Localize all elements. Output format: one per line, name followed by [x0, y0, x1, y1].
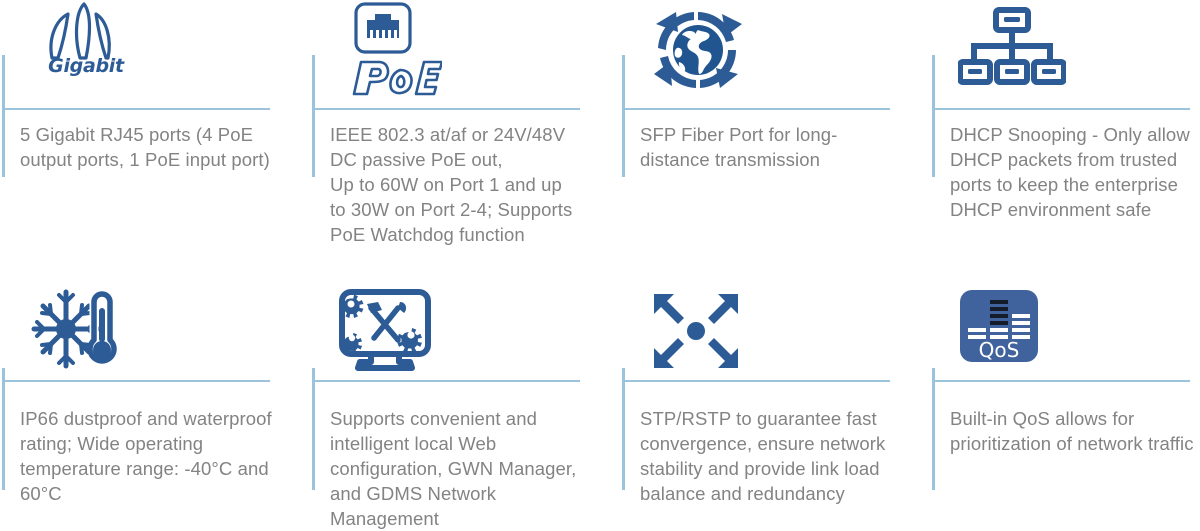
feature-card-poe: IEEE 802.3 at/af or 24V/48V DC passive P…: [310, 0, 620, 260]
feature-card-stp-rstp: STP/RSTP to guarantee fast convergence, …: [620, 260, 930, 520]
snowflake-thermometer-icon: [28, 288, 138, 388]
card-horizontal-rule: [932, 108, 1190, 110]
card-vertical-rule: [622, 368, 625, 490]
card-vertical-rule: [312, 368, 315, 490]
feature-grid: Gigabit 5 Gigabit RJ45 ports (4 PoE outp…: [0, 0, 1200, 520]
card-vertical-rule: [932, 368, 935, 490]
gigabit-logo-label: Gigabit: [36, 55, 136, 77]
feature-card-gigabit: Gigabit 5 Gigabit RJ45 ports (4 PoE outp…: [0, 0, 310, 260]
feature-card-ip66: IP66 dustproof and waterproof rating; Wi…: [0, 260, 310, 520]
card-vertical-rule: [2, 55, 5, 177]
card-horizontal-rule: [622, 108, 890, 110]
card-vertical-rule: [622, 55, 625, 177]
feature-card-management: Supports convenient and intelligent loca…: [310, 260, 620, 520]
feature-description: 5 Gigabit RJ45 ports (4 PoE output ports…: [20, 122, 272, 172]
card-vertical-rule: [2, 368, 5, 490]
feature-description: SFP Fiber Port for long-distance transmi…: [640, 122, 892, 172]
qos-badge-icon: QoS: [958, 288, 1068, 388]
gigabit-logo-icon: Gigabit: [28, 2, 138, 102]
feature-description: Built-in QoS allows for prioritization o…: [950, 406, 1200, 456]
monitor-tools-icon: [338, 288, 448, 388]
feature-description: DHCP Snooping - Only allow DHCP packets …: [950, 122, 1200, 222]
card-horizontal-rule: [312, 108, 580, 110]
feature-description: IEEE 802.3 at/af or 24V/48V DC passive P…: [330, 122, 582, 247]
globe-arrows-icon: [648, 2, 758, 102]
feature-description: STP/RSTP to guarantee fast convergence, …: [640, 406, 892, 506]
feature-card-sfp: SFP Fiber Port for long-distance transmi…: [620, 0, 930, 260]
feature-description: IP66 dustproof and waterproof rating; Wi…: [20, 406, 272, 506]
feature-card-dhcp-snooping: DHCP Snooping - Only allow DHCP packets …: [930, 0, 1200, 260]
svg-text:QoS: QoS: [979, 338, 1020, 362]
feature-card-qos: QoS Built-in QoS allows for prioritizati…: [930, 260, 1200, 520]
network-tree-icon: [958, 2, 1068, 102]
feature-description: Supports convenient and intelligent loca…: [330, 406, 582, 531]
converging-arrows-icon: [648, 288, 758, 388]
card-vertical-rule: [312, 55, 315, 177]
card-horizontal-rule: [2, 108, 270, 110]
card-vertical-rule: [932, 55, 935, 177]
poe-logo-icon: [338, 2, 448, 102]
